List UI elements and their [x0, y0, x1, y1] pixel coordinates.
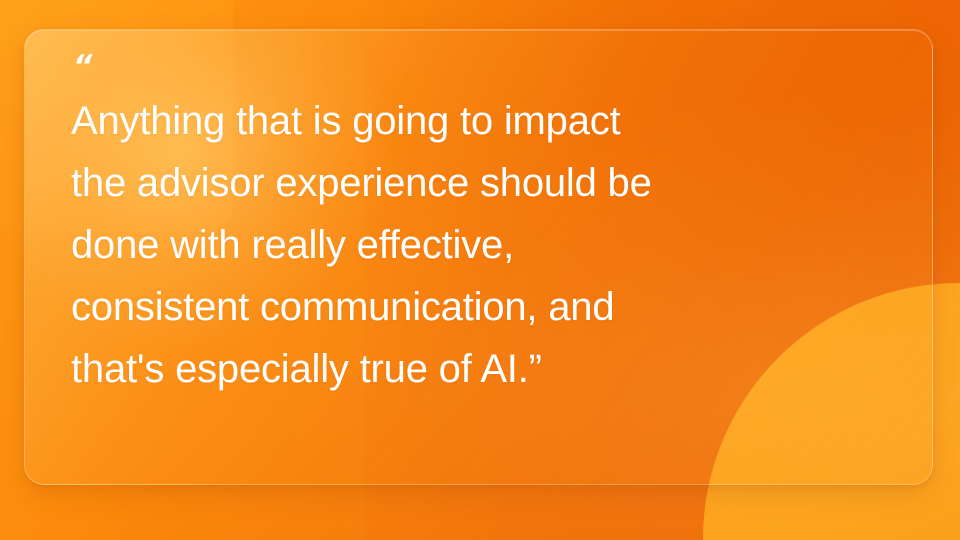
quote-line: that's especially true of AI.”: [71, 338, 892, 400]
quote-line: Anything that is going to impact: [71, 90, 892, 152]
quote-card-content: “ Anything that is going to impact the a…: [25, 30, 932, 400]
quote-card: “ Anything that is going to impact the a…: [24, 29, 933, 485]
quote-text: Anything that is going to impact the adv…: [71, 90, 892, 400]
open-quote-mark: “: [73, 52, 892, 78]
quote-line: consistent communication, and: [71, 276, 892, 338]
quote-line: the advisor experience should be: [71, 152, 892, 214]
quote-line: done with really effective,: [71, 214, 892, 276]
quote-slide: “ Anything that is going to impact the a…: [0, 0, 960, 540]
